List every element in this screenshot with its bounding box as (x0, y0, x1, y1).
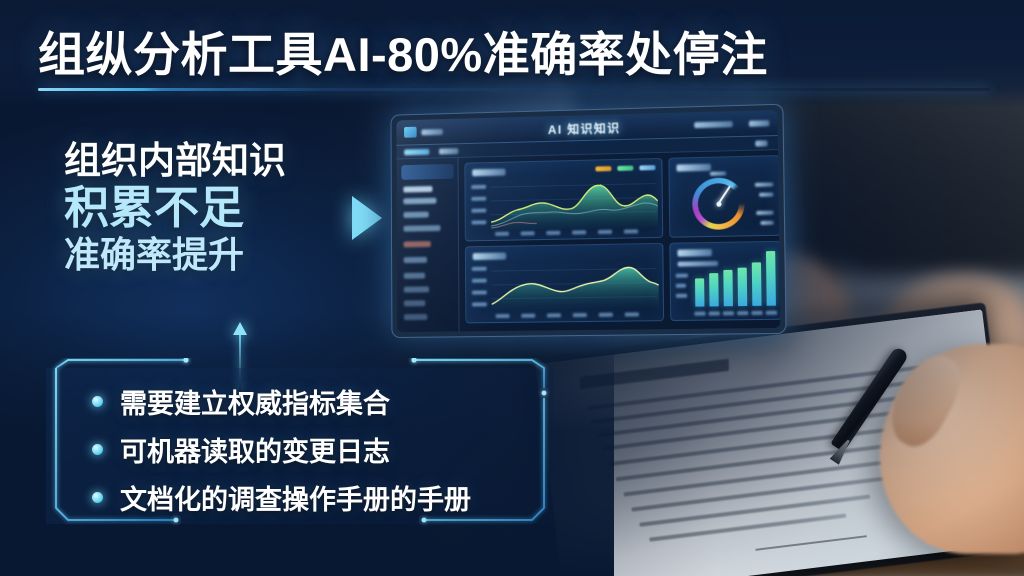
bullet-dot-icon (92, 492, 103, 503)
chart-card-trend[interactable] (464, 158, 663, 241)
topbar-action-label[interactable] (749, 120, 769, 127)
app-logo-icon (404, 127, 417, 138)
bar-5 (766, 251, 776, 306)
sidebar-item-6[interactable] (404, 273, 425, 279)
list-item: 文档化的调查操作手册的手册 (92, 478, 548, 517)
sidebar-item-2[interactable] (403, 212, 428, 218)
lead-line-1: 组织内部知识 (64, 140, 364, 181)
slide-root: 组纵分析工具AI-80%准确率处停注 组织内部知识 积累不足 准确率提升 AI … (0, 0, 1024, 576)
tab-second[interactable] (439, 148, 458, 154)
bar-1 (709, 273, 719, 306)
topbar-user-label[interactable] (694, 121, 733, 128)
bullet-dot-icon (92, 396, 103, 407)
tab-overflow-icon[interactable] (755, 140, 767, 146)
lead-headline: 组织内部知识 积累不足 准确率提升 (64, 140, 364, 275)
list-item: 需要建立权威指标集合 (92, 382, 548, 421)
dashboard-bezel: AI 知识知识 (391, 104, 787, 338)
card-title-trend (472, 169, 505, 177)
bullets-list: 需要建立权威指标集合 可机器读取的变更日志 文档化的调查操作手册的手册 (92, 382, 548, 526)
arrow-right-icon (352, 196, 382, 240)
dashboard-header-title: AI 知识知识 (548, 119, 621, 138)
gauge-kpi-3 (760, 221, 773, 225)
dashboard-viewport: AI 知识知识 (396, 110, 780, 332)
gauge-hub (716, 201, 721, 206)
bullets-panel: 需要建立权威指标集合 可机器读取的变更日志 文档化的调查操作手册的手册 (34, 358, 566, 534)
card-title-growth (473, 253, 506, 260)
lead-line-3: 准确率提升 (64, 235, 364, 275)
gauge-kpi-2 (756, 211, 773, 215)
dashboard-sidebar[interactable] (396, 158, 459, 332)
bullet-dot-icon (92, 444, 103, 455)
sidebar-item-5[interactable] (404, 257, 427, 263)
card-title-gauge (677, 164, 711, 172)
chart-legend (595, 165, 655, 171)
gauge-kpi-1 (759, 192, 773, 196)
sidebar-item-active[interactable] (401, 164, 453, 180)
coverage-subtitle (678, 261, 719, 267)
chart-card-coverage[interactable] (669, 241, 780, 321)
growth-area-svg (491, 262, 659, 310)
page-title: 组纵分析工具AI-80%准确率处停注 (38, 16, 768, 85)
tab-active[interactable] (404, 149, 429, 155)
arrow-up-head-icon (233, 322, 247, 335)
trend-area-svg (491, 179, 658, 230)
card-title-coverage (677, 249, 712, 257)
sidebar-item-3[interactable] (404, 225, 441, 232)
chart-card-growth[interactable] (465, 243, 664, 324)
bar-2 (723, 270, 733, 306)
title-underline (38, 88, 990, 91)
bar-0 (695, 278, 704, 306)
bullet-label: 文档化的调查操作手册的手册 (120, 478, 471, 517)
bullet-label: 可机器读取的变更日志 (120, 430, 390, 469)
chart-card-gauge[interactable] (668, 155, 780, 238)
sidebar-item-0[interactable] (403, 186, 432, 193)
legend-swatch-2 (639, 165, 655, 170)
bullet-label: 需要建立权威指标集合 (120, 382, 390, 421)
bar-3 (738, 268, 748, 306)
sidebar-item-4[interactable] (404, 241, 431, 247)
legend-swatch-0 (595, 166, 611, 171)
gauge-kpi-0 (755, 182, 773, 186)
topbar-menu-label[interactable] (421, 129, 442, 135)
list-item: 可机器读取的变更日志 (92, 430, 548, 469)
bar-4 (752, 262, 762, 306)
sidebar-item-9[interactable] (404, 314, 427, 320)
sidebar-item-1[interactable] (403, 198, 436, 205)
dashboard-screen[interactable]: AI 知识知识 (391, 104, 787, 338)
gauge-chart (692, 177, 745, 230)
gauge-top-label (710, 171, 726, 175)
sidebar-item-8[interactable] (404, 300, 425, 306)
lead-line-2: 积累不足 (64, 183, 364, 233)
legend-swatch-1 (617, 166, 633, 171)
sidebar-item-7[interactable] (404, 286, 429, 292)
